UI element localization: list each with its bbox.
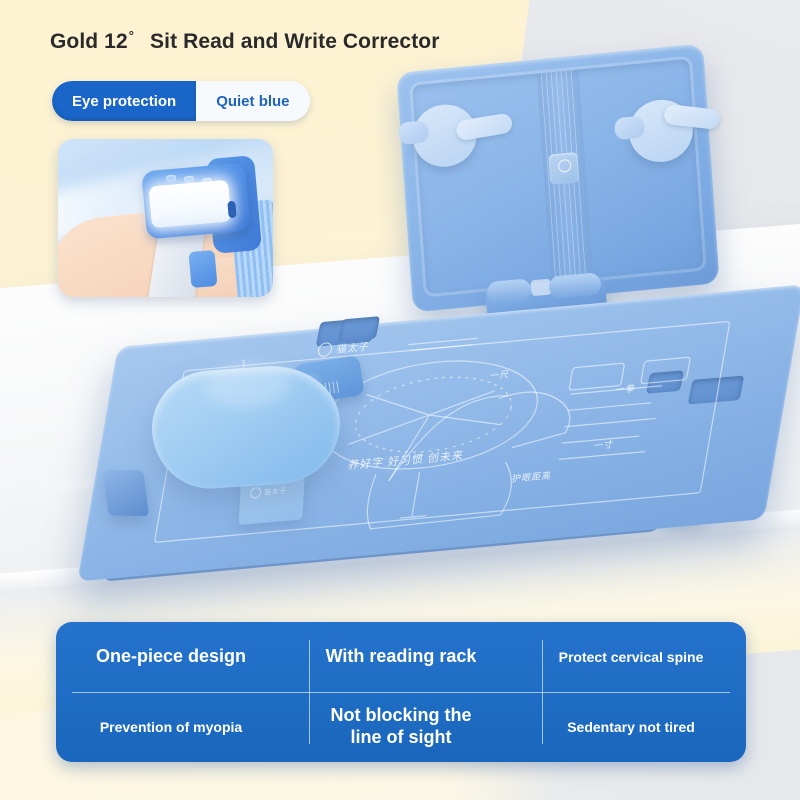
feature-one-piece-design: One-piece design [56,622,286,692]
board-annotation-0: 一尺 [489,367,511,382]
feature-divider-horizontal [72,692,730,693]
device-foot [188,250,217,288]
pad-brand-icon [250,487,262,499]
pad-brand-name: 猫太子 [264,485,287,497]
board-annotation-1: 一拳 [615,381,637,396]
degree-icon: ° [129,28,134,43]
device-usb-port [227,201,236,219]
tab-group[interactable]: Eye protection Quiet blue [52,81,310,121]
hinge-barrel-right [548,272,602,298]
inset-device-photo[interactable] [58,139,273,297]
pen-tray-right [688,375,745,404]
hinge-barrel-left [486,278,532,304]
feature-not-blocking-line-of-sight: Not blocking the line of sight [286,692,516,762]
tab-quiet-blue[interactable]: Quiet blue [196,81,309,121]
page-title: Gold 12°Sit Read and Write Corrector [50,28,440,54]
feature-prevention-of-myopia: Prevention of myopia [56,692,286,762]
brand-logo-icon [317,341,333,356]
board-leg-left [103,470,149,516]
brand-name: 猫太子 [336,338,371,356]
tab-eye-protection[interactable]: Eye protection [52,81,196,121]
title-main: Gold 12 [50,30,128,53]
feature-with-reading-rack: With reading rack [286,622,516,692]
pen-slot-right [646,370,684,393]
title-rest: Sit Read and Write Corrector [150,30,439,53]
feature-sedentary-not-tired: Sedentary not tired [516,692,746,762]
rack-brand-badge [548,152,579,185]
feature-protect-cervical-spine: Protect cervical spine [516,622,746,692]
reading-rack [396,43,719,312]
board-annotation-2: 一寸 [593,437,615,452]
device-button-1 [166,175,177,183]
device-lamp [148,180,231,229]
pad-post-brand: 猫太子 [250,485,287,499]
feature-grid: One-piece design With reading rack Prote… [56,622,746,762]
product-marketing-image: Gold 12°Sit Read and Write Corrector Eye… [0,0,800,800]
